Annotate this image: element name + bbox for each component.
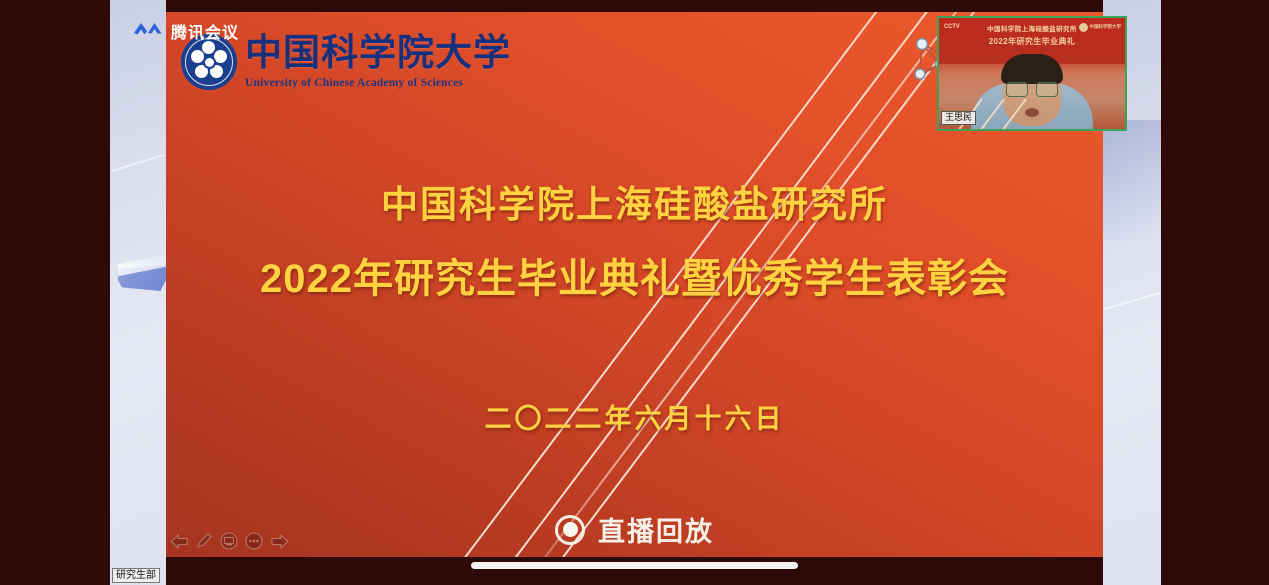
arrow-left-icon[interactable] xyxy=(169,531,189,551)
arrow-right-icon[interactable] xyxy=(269,531,289,551)
participant-video-tile[interactable]: CCTV 中国科学院上海硅酸盐研究所 2022年研究生毕业典礼 中国科学院大学 … xyxy=(937,16,1127,131)
home-indicator-bar[interactable] xyxy=(471,562,798,569)
ucas-name-en: University of Chinese Academy of Science… xyxy=(245,77,511,89)
desktop-shadow xyxy=(1103,120,1161,240)
live-replay-label: 直播回放 xyxy=(598,510,714,549)
pen-icon[interactable] xyxy=(194,531,214,551)
screen-root: 腾讯会议 中国科学院大学 University of Chinese Acade… xyxy=(0,0,1269,585)
live-replay-indicator: 直播回放 xyxy=(166,510,1103,549)
portrait-mouth xyxy=(1025,108,1039,117)
tencent-meeting-branding: 腾讯会议 xyxy=(133,19,239,43)
slides-icon[interactable] xyxy=(219,531,239,551)
tencent-meeting-label: 腾讯会议 xyxy=(171,19,239,43)
presenter-toolbar[interactable] xyxy=(169,531,289,551)
banner-seal-icon xyxy=(1079,23,1088,32)
record-circle-icon xyxy=(555,515,585,545)
desk-edge-line-right xyxy=(1104,292,1160,310)
tencent-meeting-logo-icon xyxy=(133,20,163,42)
portrait-glasses xyxy=(1006,82,1058,97)
ucas-name-cn: 中国科学院大学 xyxy=(245,35,511,72)
banner-seal-text: 中国科学院大学 xyxy=(1090,25,1122,30)
slide-title-line-2: 2022年研究生毕业典礼暨优秀学生表彰会 xyxy=(166,249,1103,309)
participant-name-badge: 王思民 xyxy=(941,111,976,125)
ellipsis-icon[interactable] xyxy=(244,531,264,551)
slide-title-line-1: 中国科学院上海硅酸盐研究所 xyxy=(166,177,1103,233)
slide-date: 二〇二二年六月十六日 xyxy=(166,397,1103,436)
graduate-department-watermark: 研究生部 xyxy=(112,568,160,584)
slide-title-block: 中国科学院上海硅酸盐研究所 2022年研究生毕业典礼暨优秀学生表彰会 xyxy=(166,177,1103,309)
desk-edge-line xyxy=(111,154,165,172)
portrait-hair xyxy=(1001,54,1063,84)
banner-seal: 中国科学院大学 xyxy=(1079,23,1122,32)
